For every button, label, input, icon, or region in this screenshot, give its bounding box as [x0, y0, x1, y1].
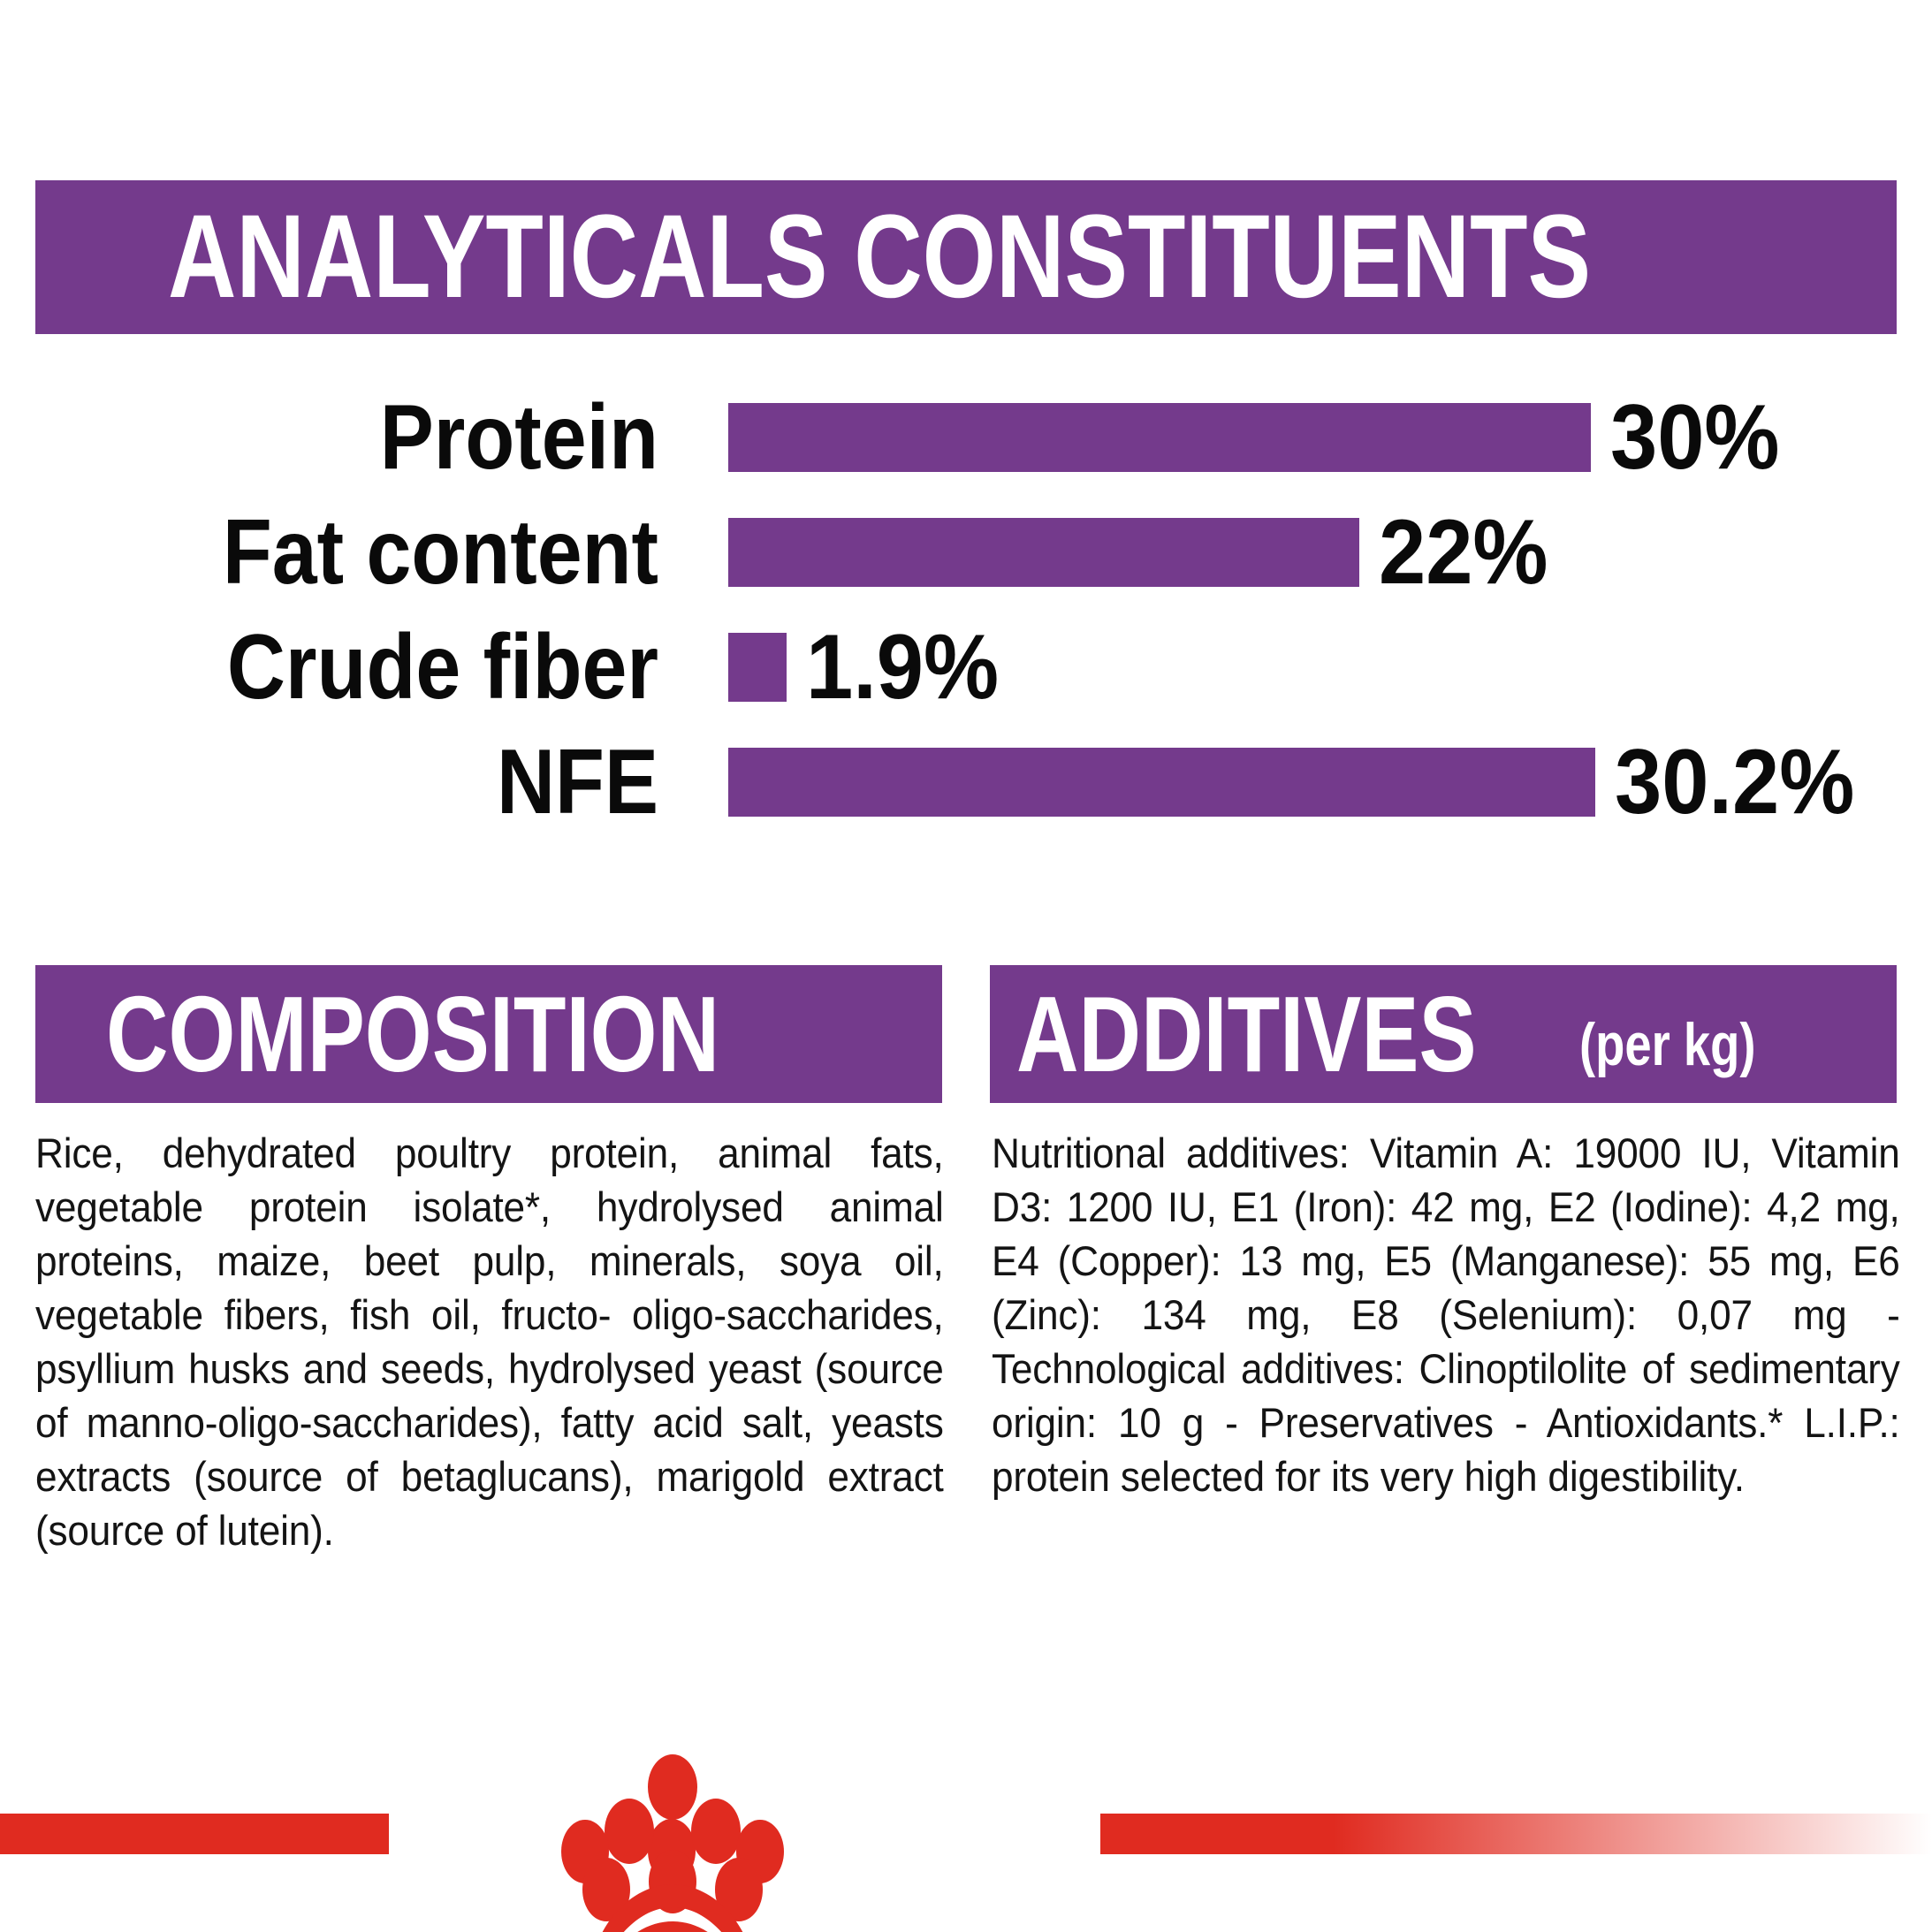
bar-wrap-crude-fiber: 1.9% — [728, 621, 1015, 713]
bar-protein — [728, 403, 1591, 472]
additives-text: Nutritional additives: Vitamin A: 19000 … — [992, 1127, 1900, 1504]
bar-wrap-fat-content: 22% — [728, 506, 1563, 598]
footer-red-bar-right — [1100, 1814, 1932, 1854]
royal-canin-crown-logo — [433, 1732, 1052, 1932]
analyticals-constituents-header: ANALYTICALS CONSTITUENTS — [35, 180, 1897, 334]
bar-label-crude-fiber: Crude fiber — [79, 621, 658, 713]
footer — [0, 1814, 1932, 1932]
chart-row-crude-fiber: Crude fiber 1.9% — [0, 610, 1932, 725]
composition-title: COMPOSITION — [106, 980, 719, 1088]
analyticals-constituents-title: ANALYTICALS CONSTITUENTS — [168, 198, 1591, 316]
composition-text: Rice, dehydrated poultry protein, animal… — [35, 1127, 944, 1558]
bar-crude-fiber — [728, 633, 787, 702]
chart-row-fat-content: Fat content 22% — [0, 495, 1932, 610]
additives-header: ADDITIVES (per kg) — [990, 965, 1897, 1103]
bar-value-crude-fiber: 1.9% — [806, 621, 999, 713]
analyticals-bar-chart: Protein 30% Fat content 22% Crude fiber … — [0, 380, 1932, 840]
bar-value-fat-content: 22% — [1379, 506, 1548, 598]
bar-nfe — [728, 748, 1595, 817]
additives-subtitle: (per kg) — [1579, 1015, 1755, 1080]
bar-value-nfe: 30.2% — [1615, 736, 1854, 828]
chart-row-nfe: NFE 30.2% — [0, 725, 1932, 840]
additives-title: ADDITIVES — [1016, 980, 1477, 1088]
bar-fat-content — [728, 518, 1359, 587]
bar-label-nfe: NFE — [79, 736, 658, 828]
bar-wrap-protein: 30% — [728, 392, 1794, 483]
bar-value-protein: 30% — [1610, 392, 1780, 483]
composition-header: COMPOSITION — [35, 965, 942, 1103]
bar-wrap-nfe: 30.2% — [728, 736, 1875, 828]
footer-red-bar-left — [0, 1814, 389, 1854]
bar-label-protein: Protein — [79, 392, 658, 483]
bar-label-fat-content: Fat content — [79, 506, 658, 598]
chart-row-protein: Protein 30% — [0, 380, 1932, 495]
